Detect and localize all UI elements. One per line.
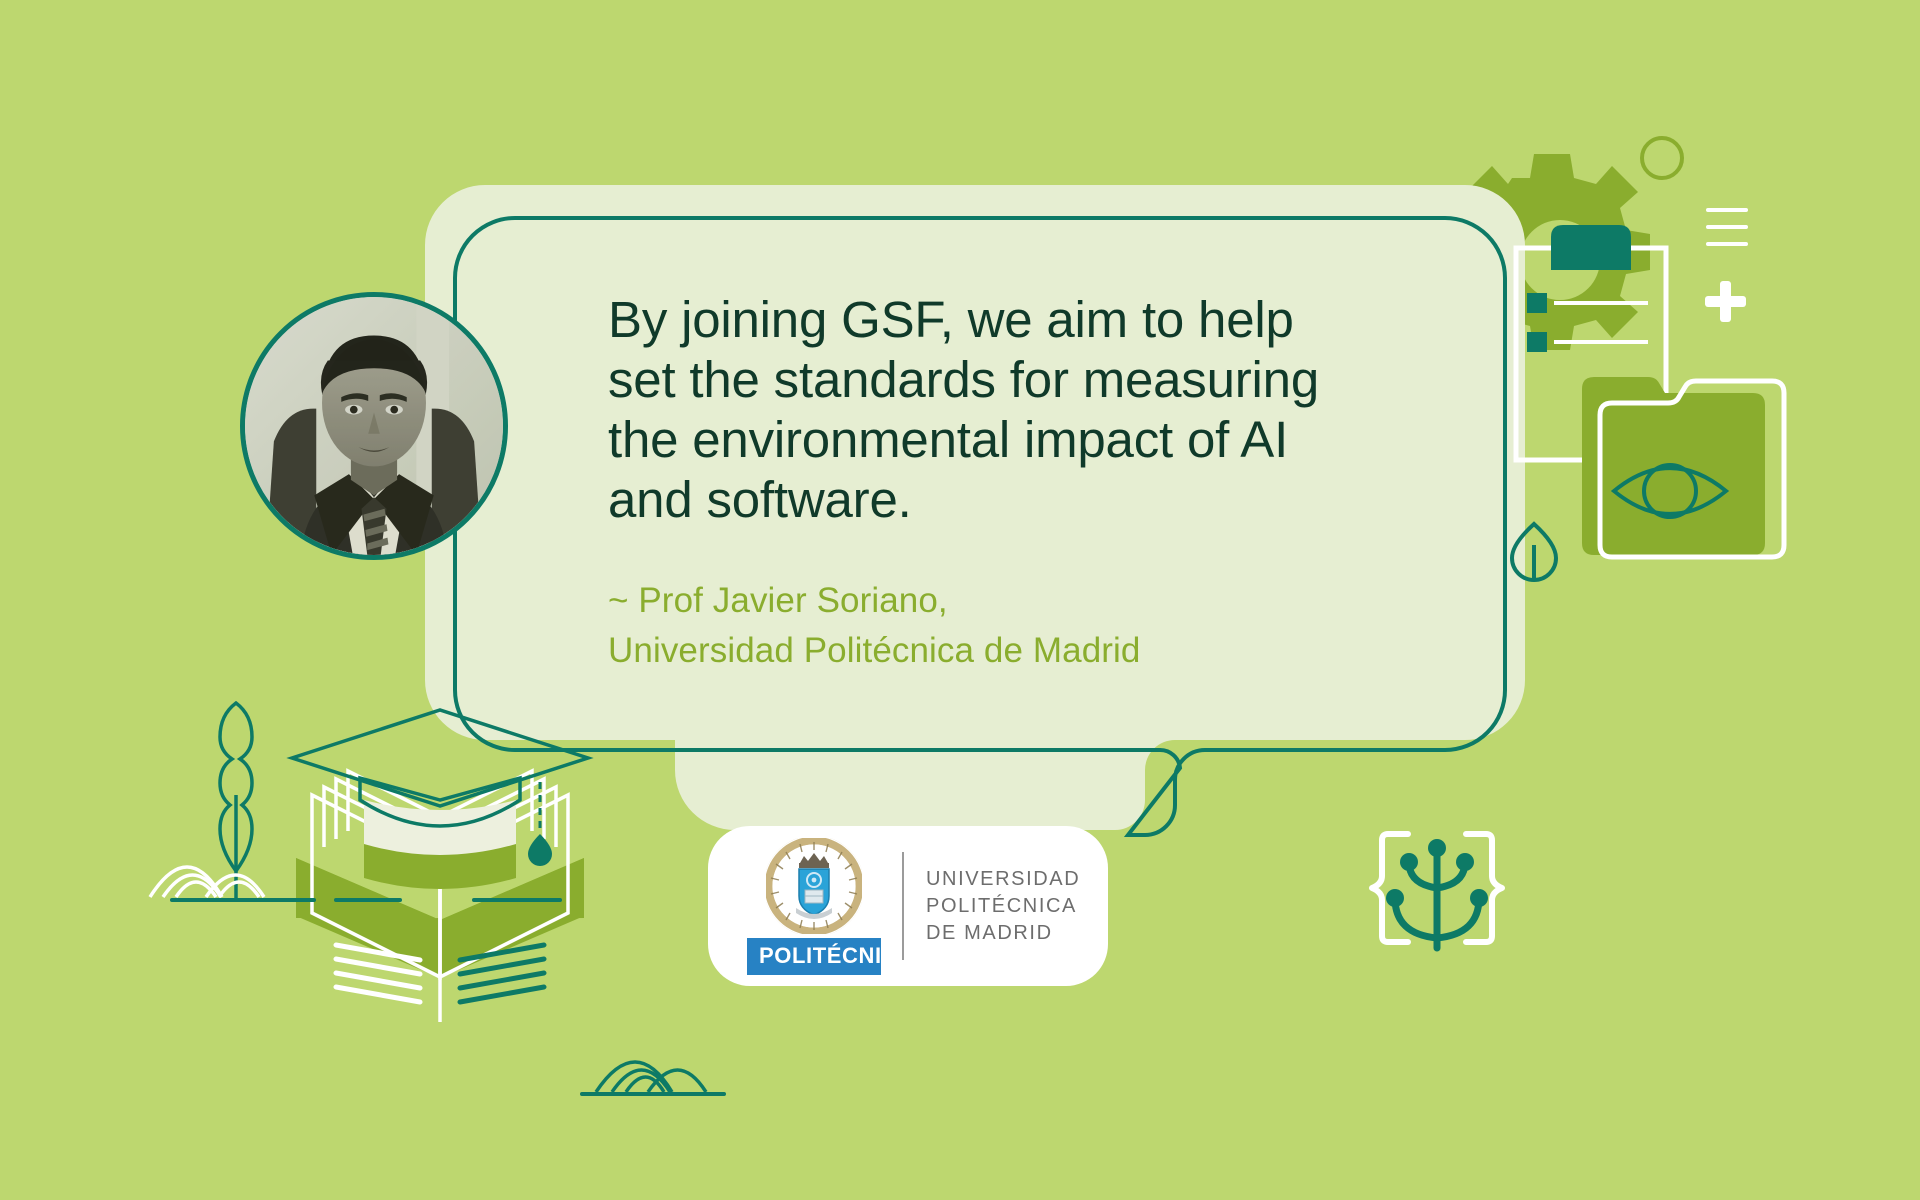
- upm-crest-icon: [766, 838, 862, 934]
- mountains-icon: [596, 1062, 706, 1092]
- decor-front-layer: [0, 0, 1920, 1200]
- mountains-icon: [150, 867, 264, 897]
- university-logo-badge: POLITÉCNICA UNIVERSIDAD POLITÉCNICA DE M…: [708, 826, 1108, 986]
- logo-divider: [902, 852, 904, 960]
- promo-graphic: By joining GSF, we aim to help set the s…: [0, 0, 1920, 1200]
- leaf-icon: [1512, 524, 1556, 580]
- crest-column: POLITÉCNICA: [734, 838, 894, 975]
- plus-icon: [1705, 281, 1746, 322]
- tree-outline-icon: [220, 703, 252, 900]
- checkbox-icon: [1527, 332, 1547, 352]
- hamburger-menu-icon: [1708, 210, 1746, 244]
- checkbox-icon: [1527, 293, 1547, 313]
- university-name: UNIVERSIDAD POLITÉCNICA DE MADRID: [926, 866, 1080, 947]
- clipboard-clip: [1551, 225, 1631, 270]
- politecnica-banner: POLITÉCNICA: [747, 938, 881, 975]
